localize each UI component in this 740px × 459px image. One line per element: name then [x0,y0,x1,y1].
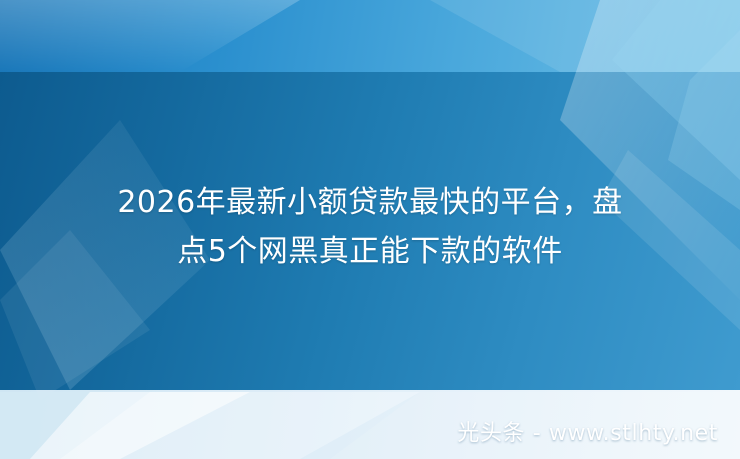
banner-canvas: 2026年最新小额贷款最快的平台，盘 点5个网黑真正能下款的软件 光头条 - w… [0,0,740,459]
background-top-band [0,0,740,72]
banner-headline: 2026年最新小额贷款最快的平台，盘 点5个网黑真正能下款的软件 [0,178,740,276]
site-watermark: 光头条 - www.stlhty.net [457,415,718,447]
